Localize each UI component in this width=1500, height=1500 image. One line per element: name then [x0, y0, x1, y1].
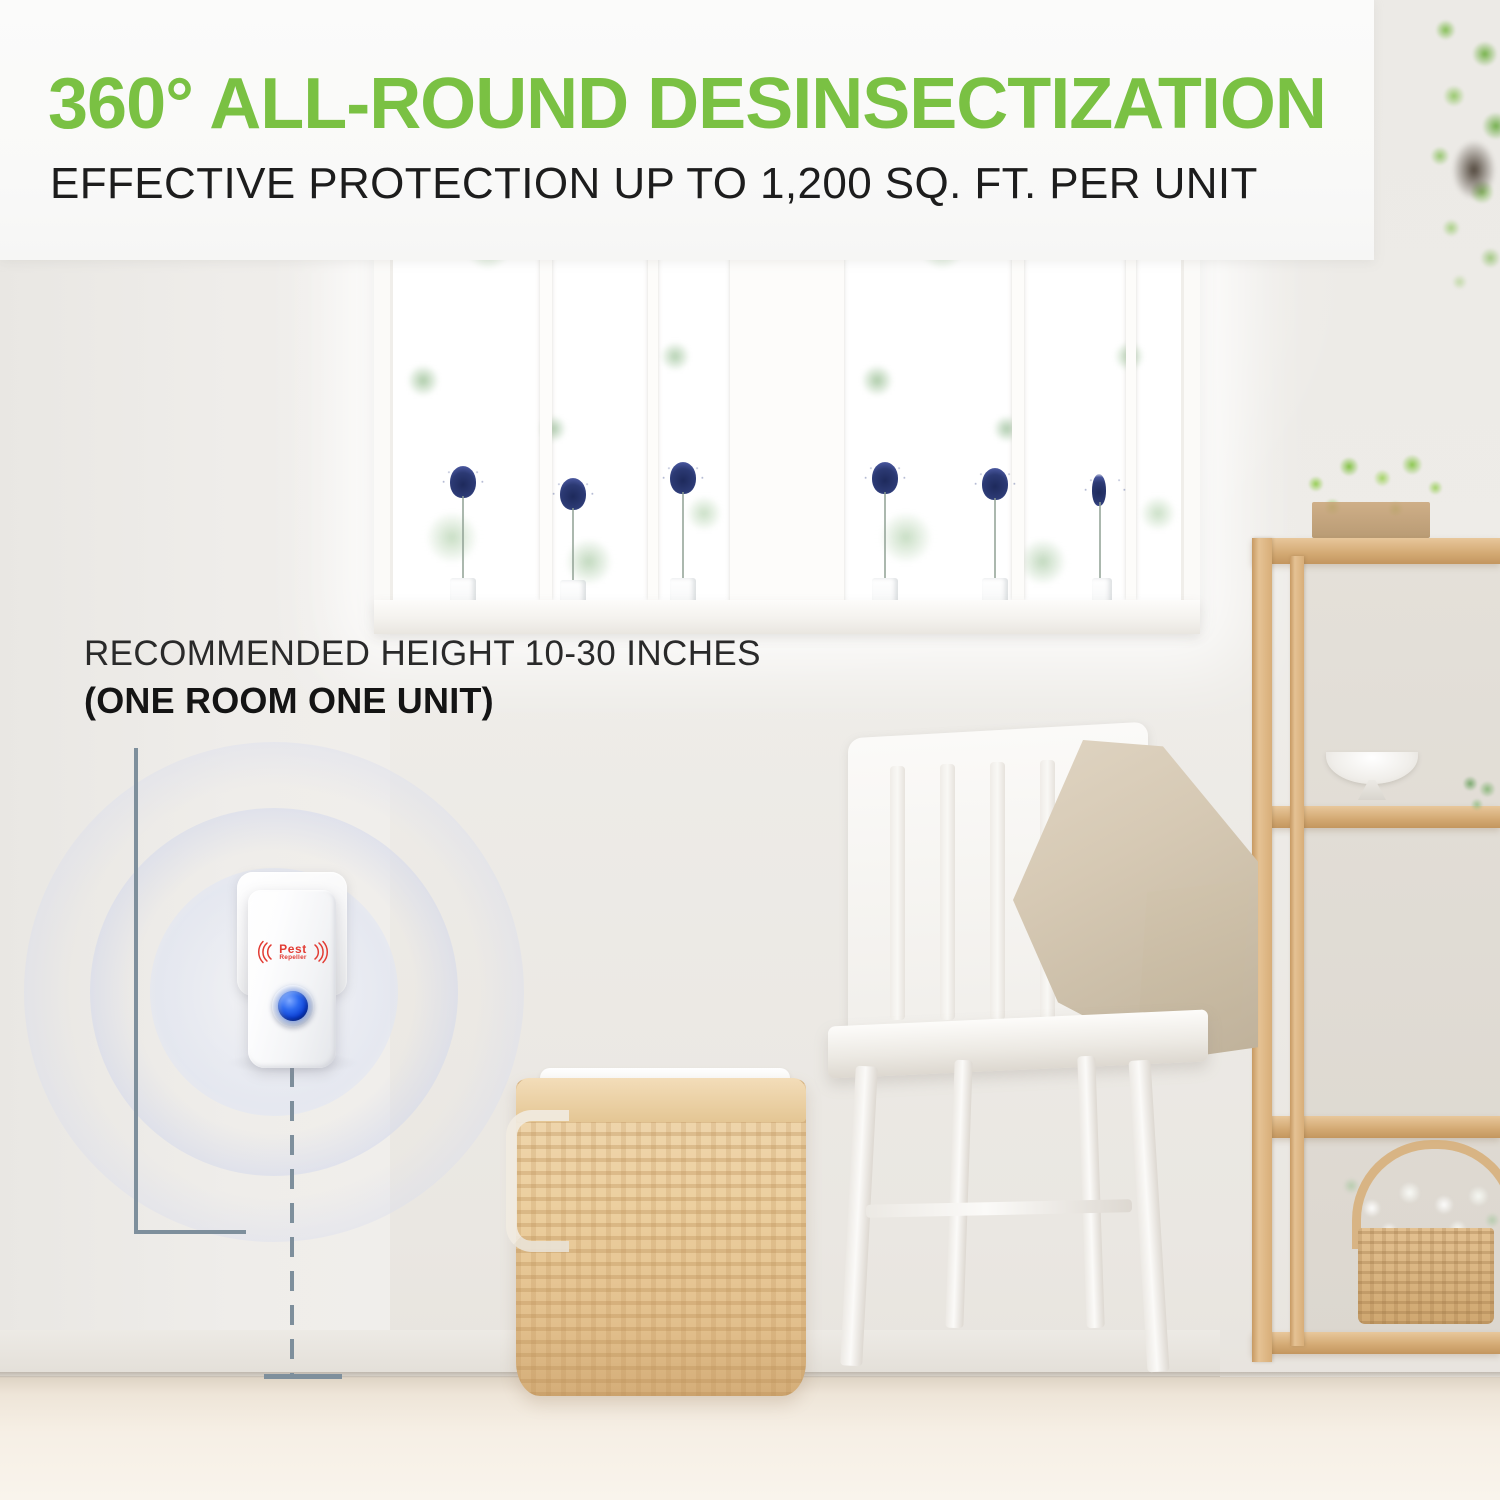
shelf-post-back-left — [1290, 556, 1304, 1346]
banner-subtitle: EFFECTIVE PROTECTION UP TO 1,200 SQ. FT.… — [50, 162, 1258, 206]
pest-repeller-device[interactable]: Pest Repeller — [231, 872, 353, 1068]
flower-stem — [1099, 502, 1101, 578]
thistle-flower-icon — [450, 466, 476, 498]
one-room-one-unit-label: (ONE ROOM ONE UNIT) — [84, 680, 874, 722]
flower-stem — [884, 492, 886, 578]
chair-slat — [940, 764, 955, 1020]
measurement-line-vertical — [134, 748, 138, 1234]
window-sill — [374, 600, 1200, 634]
shelf-board-lower — [1270, 1116, 1500, 1138]
flower-stem — [572, 508, 574, 580]
thistle-flower-icon — [670, 462, 696, 494]
device-brand-logo: Pest Repeller — [257, 938, 329, 966]
thistle-flower-icon — [560, 478, 586, 510]
flower-stem — [994, 498, 996, 578]
product-feature-image: Pest Repeller RECOMMENDED HEIGHT 10-30 I… — [0, 0, 1500, 1500]
thistle-flower-icon — [872, 462, 898, 494]
flower-stem — [682, 492, 684, 578]
device-logo-line2: Repeller — [279, 955, 307, 962]
headline-banner: 360° ALL-ROUND DESINSECTIZATION EFFECTIV… — [0, 0, 1374, 260]
chair-leg-back-right — [1077, 1056, 1104, 1328]
measurement-tick-floor — [264, 1374, 342, 1379]
basket-handle — [506, 1110, 569, 1252]
device-logo-text: Pest Repeller — [279, 943, 307, 962]
recommended-height-label: RECOMMENDED HEIGHT 10-30 INCHES — [84, 634, 874, 674]
device-body — [248, 890, 336, 1068]
small-plant-in-jar-icon — [1452, 764, 1500, 834]
chair-leg-back-left — [945, 1060, 972, 1328]
hanging-plant-pot — [1452, 140, 1496, 200]
chair-slat — [890, 766, 905, 1020]
chair-slat — [990, 762, 1005, 1020]
device-logo-line1: Pest — [279, 943, 307, 955]
measurement-line-dashed — [290, 1067, 294, 1377]
device-power-led-indicator[interactable] — [278, 991, 308, 1021]
thistle-flower-icon — [982, 468, 1008, 500]
white-wooden-chair — [838, 730, 1238, 1390]
throw-blanket-fold — [1138, 880, 1250, 1030]
chair-leg-front-right — [1128, 1060, 1169, 1373]
banner-title: 360° ALL-ROUND DESINSECTIZATION — [48, 68, 1326, 140]
flower-stem — [462, 496, 464, 578]
wicker-flower-basket — [1358, 1228, 1494, 1324]
installation-callout: RECOMMENDED HEIGHT 10-30 INCHES (ONE ROO… — [84, 634, 874, 722]
measurement-line-bottom-bracket — [134, 1230, 246, 1234]
